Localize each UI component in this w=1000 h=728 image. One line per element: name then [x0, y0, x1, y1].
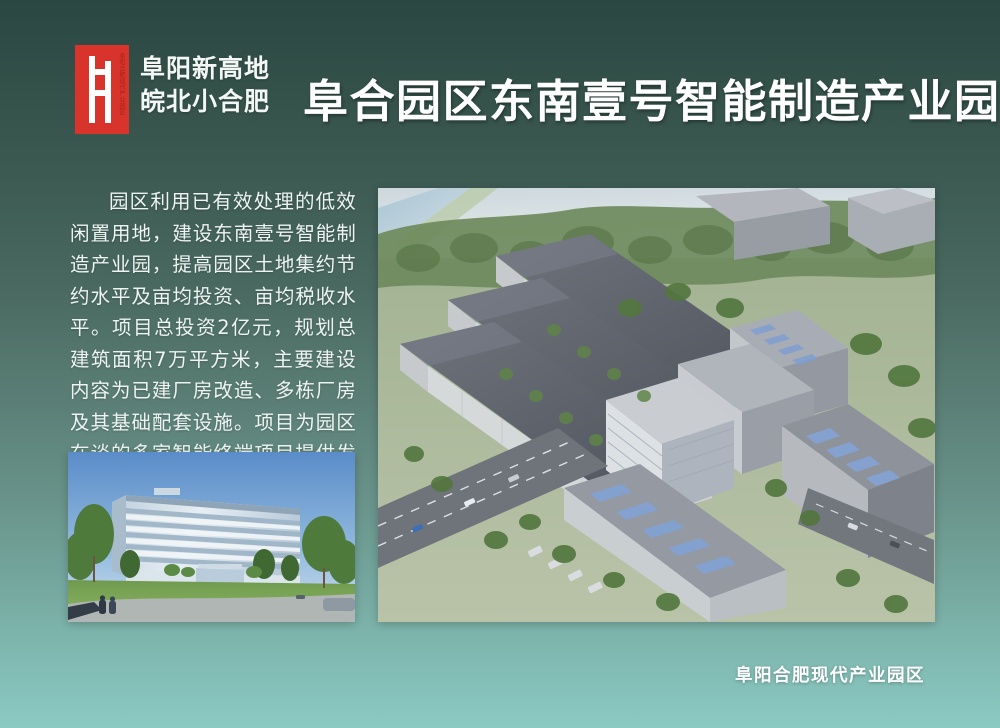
logo-vertical-text: 阜阳合肥现代产业园区: [116, 53, 125, 115]
brand-slogan-line-1: 阜阳新高地: [140, 52, 270, 85]
office-building-image: [68, 452, 355, 622]
brand-logo-mark: 阜阳合肥现代产业园区: [75, 45, 129, 134]
office-building-artwork: [68, 452, 355, 622]
footer-organization-caption: 阜阳合肥现代产业园区: [735, 664, 925, 688]
slide-header: 阜阳合肥现代产业园区 阜阳新高地 皖北小合肥 阜合园区东南壹号智能制造产业园: [0, 0, 1000, 160]
logo-monogram-stroke-h-vertical: [105, 56, 111, 123]
brand-slogan-line-2: 皖北小合肥: [140, 85, 270, 118]
aerial-rendering-artwork: [378, 188, 935, 622]
slide-title: 阜合园区东南壹号智能制造产业园: [303, 74, 1000, 130]
presentation-slide: 阜阳合肥现代产业园区 阜阳新高地 皖北小合肥 阜合园区东南壹号智能制造产业园 园…: [0, 0, 1000, 728]
aerial-rendering-image: [378, 188, 935, 622]
brand-slogan: 阜阳新高地 皖北小合肥: [140, 52, 270, 118]
